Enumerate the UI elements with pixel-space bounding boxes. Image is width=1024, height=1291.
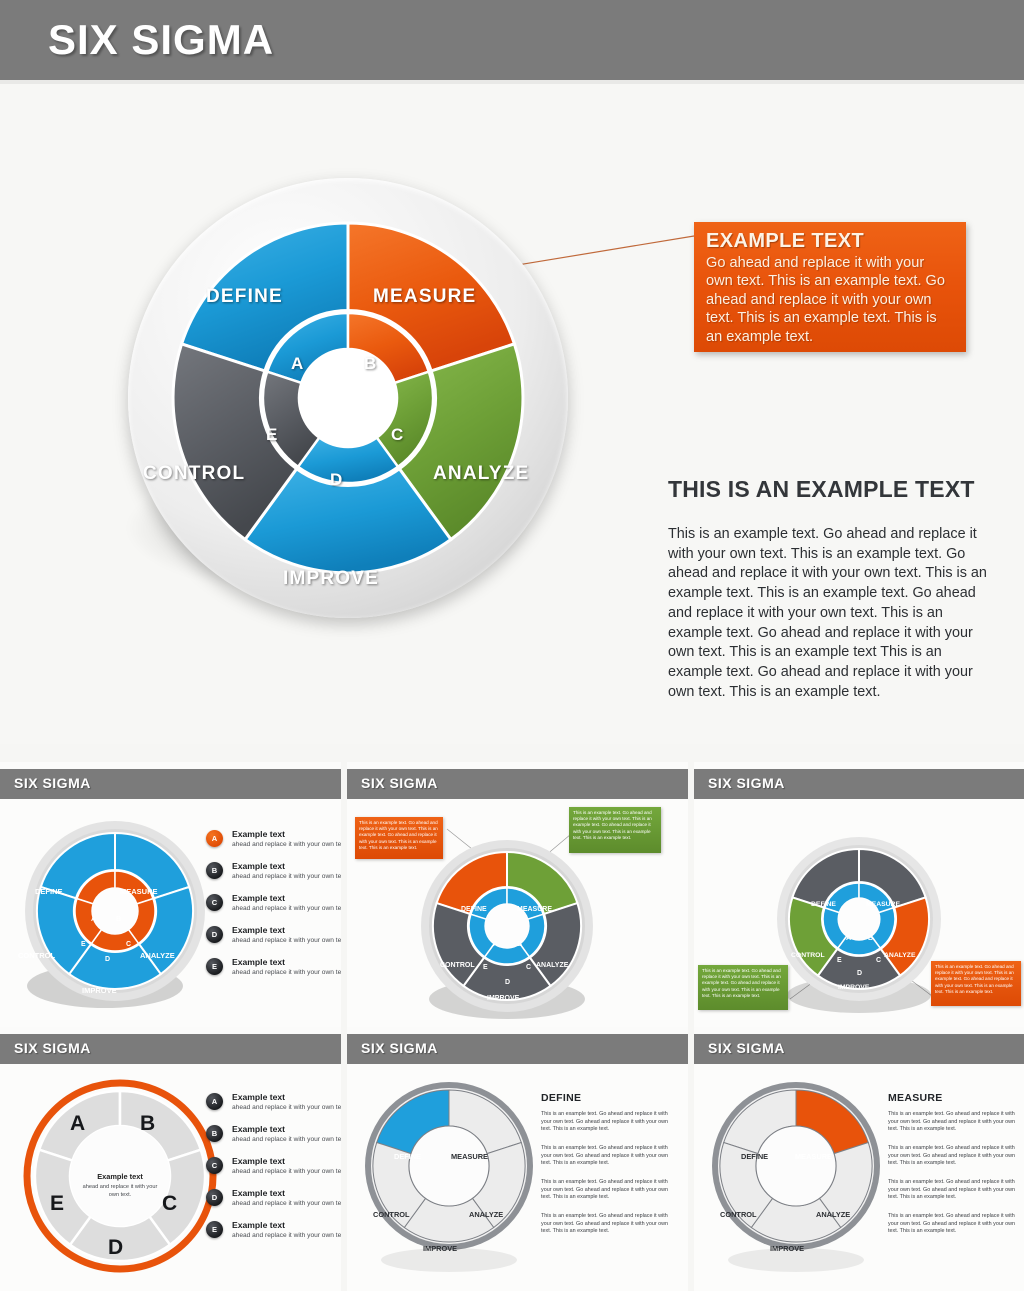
- t4-letter-b: B: [140, 1112, 155, 1136]
- t3-ring-c: C: [876, 957, 881, 964]
- thumbnail-grid: SIX SIGMA: [0, 762, 1024, 1291]
- t1-ring-c: C: [126, 941, 131, 948]
- thumbnail-5-side: DEFINE This is an example text. Go ahead…: [541, 1092, 673, 1247]
- t3-callout-green-text: This is an example text. Go ahead and re…: [702, 968, 784, 999]
- thumbnail-2-body: DEFINE MEASURE ANALYZE IMPROVE CONTROL A…: [347, 799, 688, 1027]
- t5-side-heading: DEFINE: [541, 1092, 673, 1104]
- callout-title: EXAMPLE TEXT: [706, 230, 954, 253]
- legend-item[interactable]: B Example text ahead and replace it with…: [206, 861, 336, 891]
- t4-legend-badge-c: C: [206, 1157, 223, 1174]
- t4-letter-d: D: [108, 1236, 123, 1260]
- t1-ring-b: B: [116, 916, 121, 923]
- thumbnail-3-header: SIX SIGMA: [694, 769, 1024, 799]
- legend-item[interactable]: E Example text ahead and replace it with…: [206, 957, 336, 987]
- t4-legend-title-b: Example text: [232, 1124, 285, 1134]
- t4-legend-sub-b: ahead and replace it with your own text.: [232, 1136, 341, 1143]
- callout-body: Go ahead and replace it with your own te…: [706, 254, 954, 346]
- t3-ring-d: D: [857, 970, 862, 977]
- thumbnail-6-side: MEASURE This is an example text. Go ahea…: [888, 1092, 1016, 1247]
- ring-label-d: D: [330, 470, 342, 490]
- t3-label-analyze: ANALYZE: [884, 952, 915, 959]
- t4-legend-badge-e: E: [206, 1221, 223, 1238]
- thumbnail-5[interactable]: SIX SIGMA DEFINE: [347, 1027, 688, 1291]
- t6-label-define: DEFINE: [741, 1152, 768, 1161]
- thumbnail-6-header: SIX SIGMA: [694, 1034, 1024, 1064]
- legend-item[interactable]: A Example text ahead and replace it with…: [206, 829, 336, 859]
- t6-label-analyze: ANALYZE: [816, 1210, 850, 1219]
- t1-ring-e: E: [81, 941, 86, 948]
- legend-badge-b: B: [206, 862, 223, 879]
- t4-legend-badge-b: B: [206, 1125, 223, 1142]
- t2-ring-a: A: [493, 941, 498, 948]
- legend-badge-e: E: [206, 958, 223, 975]
- thumbnail-3-body: DEFINE MEASURE ANALYZE IMPROVE CONTROL A…: [694, 799, 1024, 1027]
- legend-badge-c: C: [206, 894, 223, 911]
- t3-callout-orange: This is an example text. Go ahead and re…: [931, 961, 1021, 1006]
- legend-sub-e: ahead and replace it with your own text.: [232, 969, 341, 976]
- legend-title-c: Example text: [232, 893, 285, 903]
- thumbnail-4[interactable]: SIX SIGMA A B C D: [0, 1027, 341, 1291]
- wheel-hub: [299, 349, 397, 447]
- t2-callout-green: This is an example text. Go ahead and re…: [569, 807, 661, 853]
- t2-label-analyze: ANALYZE: [536, 962, 568, 969]
- ring-label-a: A: [291, 354, 303, 374]
- t6-label-improve: IMPROVE: [770, 1244, 804, 1253]
- thumbnail-4-header: SIX SIGMA: [0, 1034, 341, 1064]
- t4-legend-title-c: Example text: [232, 1156, 285, 1166]
- thumbnail-2-title: SIX SIGMA: [361, 775, 438, 791]
- t3-label-improve: IMPROVE: [838, 984, 869, 991]
- t4-legend-badge-d: D: [206, 1189, 223, 1206]
- legend-item[interactable]: D Example text ahead and replace it with…: [206, 925, 336, 955]
- t3-ring-a: A: [846, 935, 851, 942]
- thumbnail-6-title: SIX SIGMA: [708, 1040, 785, 1056]
- t4-legend-badge-a: A: [206, 1093, 223, 1110]
- legend-item[interactable]: C Example text ahead and replace it with…: [206, 893, 336, 923]
- t6-side-p2: This is an example text. Go ahead and re…: [888, 1145, 1016, 1168]
- t2-callout-green-text: This is an example text. Go ahead and re…: [573, 810, 657, 841]
- t5-label-improve: IMPROVE: [423, 1244, 457, 1253]
- right-text-body: This is an example text. Go ahead and re…: [668, 525, 990, 703]
- thumbnail-1-legend: A Example text ahead and replace it with…: [206, 829, 336, 989]
- thumbnail-1[interactable]: SIX SIGMA: [0, 762, 341, 1027]
- t5-label-measure: MEASURE: [451, 1152, 488, 1161]
- thumbnail-5-title: SIX SIGMA: [361, 1040, 438, 1056]
- thumbnail-2-header: SIX SIGMA: [347, 769, 688, 799]
- t5-label-control: CONTROL: [373, 1210, 410, 1219]
- t4-letter-c: C: [162, 1192, 177, 1216]
- t3-label-control: CONTROL: [791, 952, 825, 959]
- legend-title-e: Example text: [232, 957, 285, 967]
- right-text-block: THIS IS AN EXAMPLE TEXT This is an examp…: [668, 476, 990, 703]
- t2-callout-orange: This is an example text. Go ahead and re…: [355, 817, 443, 859]
- t1-label-analyze: ANALYZE: [140, 951, 175, 960]
- t6-side-p4: This is an example text. Go ahead and re…: [888, 1213, 1016, 1236]
- thumbnail-6[interactable]: SIX SIGMA DEFINE: [694, 1027, 1024, 1291]
- t3-ring-b: B: [868, 935, 873, 942]
- thumbnail-4-title: SIX SIGMA: [14, 1040, 91, 1056]
- thumbnail-6-body: DEFINE MEASURE ANALYZE IMPROVE CONTROL M…: [694, 1064, 1024, 1291]
- t1-ring-a: A: [91, 916, 96, 923]
- t6-label-measure: MEASURE: [795, 1152, 832, 1161]
- t3-label-measure: MEASURE: [866, 901, 900, 908]
- wheel-segments: [128, 178, 568, 618]
- t4-legend-sub-e: ahead and replace it with your own text.: [232, 1232, 341, 1239]
- thumbnail-1-title: SIX SIGMA: [14, 775, 91, 791]
- hero-section: DEFINE MEASURE ANALYZE IMPROVE CONTROL A…: [0, 84, 1024, 744]
- thumbnail-3[interactable]: SIX SIGMA: [694, 762, 1024, 1027]
- t4-letter-e: E: [50, 1192, 64, 1216]
- t6-label-control: CONTROL: [720, 1210, 757, 1219]
- label-analyze: ANALYZE: [433, 463, 529, 485]
- label-measure: MEASURE: [373, 286, 476, 308]
- t4-legend-title-a: Example text: [232, 1092, 285, 1102]
- t4-center-text: Example text ahead and replace it with y…: [80, 1172, 160, 1199]
- legend-badge-d: D: [206, 926, 223, 943]
- t4-legend-title-d: Example text: [232, 1188, 285, 1198]
- t4-center-title: Example text: [80, 1172, 160, 1181]
- t3-callout-green: This is an example text. Go ahead and re…: [698, 965, 788, 1010]
- t2-label-control: CONTROL: [440, 962, 475, 969]
- page-title: SIX SIGMA: [48, 16, 274, 64]
- ring-label-e: E: [266, 425, 277, 445]
- t2-ring-e: E: [483, 964, 488, 971]
- legend-sub-c: ahead and replace it with your own text.: [232, 905, 341, 912]
- t4-center-sub: ahead and replace it with your own text.: [80, 1184, 160, 1199]
- thumbnail-3-title: SIX SIGMA: [708, 775, 785, 791]
- ring-label-c: C: [391, 425, 403, 445]
- legend-title-b: Example text: [232, 861, 285, 871]
- main-header: SIX SIGMA: [0, 0, 1024, 80]
- six-sigma-wheel: DEFINE MEASURE ANALYZE IMPROVE CONTROL A…: [108, 158, 588, 658]
- legend-sub-a: ahead and replace it with your own text.: [232, 841, 341, 848]
- legend-title-d: Example text: [232, 925, 285, 935]
- t5-side-p1: This is an example text. Go ahead and re…: [541, 1111, 673, 1134]
- t2-label-define: DEFINE: [461, 906, 487, 913]
- t6-side-heading: MEASURE: [888, 1092, 1016, 1104]
- t2-ring-d: D: [505, 979, 510, 986]
- t2-callout-orange-text: This is an example text. Go ahead and re…: [359, 820, 439, 851]
- t3-ring-e: E: [837, 957, 842, 964]
- t6-side-p3: This is an example text. Go ahead and re…: [888, 1179, 1016, 1202]
- example-callout-box: EXAMPLE TEXT Go ahead and replace it wit…: [694, 222, 966, 352]
- legend-item[interactable]: B Example text ahead and replace it with…: [206, 1124, 336, 1154]
- t5-label-analyze: ANALYZE: [469, 1210, 503, 1219]
- legend-badge-a: A: [206, 830, 223, 847]
- legend-title-a: Example text: [232, 829, 285, 839]
- right-text-heading: THIS IS AN EXAMPLE TEXT: [668, 476, 990, 503]
- t1-label-measure: MEASURE: [120, 887, 158, 896]
- label-control: CONTROL: [143, 463, 245, 485]
- t5-side-p4: This is an example text. Go ahead and re…: [541, 1213, 673, 1236]
- t6-side-p1: This is an example text. Go ahead and re…: [888, 1111, 1016, 1134]
- thumbnail-1-body: DEFINE MEASURE ANALYZE IMPROVE CONTROL A…: [0, 799, 341, 1027]
- thumbnail-5-body: DEFINE MEASURE ANALYZE IMPROVE CONTROL D…: [347, 1064, 688, 1291]
- label-improve: IMPROVE: [283, 568, 379, 590]
- t4-legend-sub-d: ahead and replace it with your own text.: [232, 1200, 341, 1207]
- t4-legend-sub-a: ahead and replace it with your own text.: [232, 1104, 341, 1111]
- t1-label-define: DEFINE: [35, 887, 63, 896]
- thumbnail-2[interactable]: SIX SIGMA: [347, 762, 688, 1027]
- t4-legend-sub-c: ahead and replace it with your own text.: [232, 1168, 341, 1175]
- legend-sub-b: ahead and replace it with your own text.: [232, 873, 341, 880]
- t4-letter-a: A: [70, 1112, 85, 1136]
- t1-label-control: CONTROL: [18, 951, 55, 960]
- legend-item[interactable]: D Example text ahead and replace it with…: [206, 1188, 336, 1218]
- ring-label-b: B: [364, 354, 376, 374]
- legend-sub-d: ahead and replace it with your own text.: [232, 937, 341, 944]
- t2-ring-c: C: [526, 964, 531, 971]
- t1-ring-d: D: [105, 956, 110, 963]
- label-define: DEFINE: [206, 286, 283, 308]
- page-root: SIX SIGMA: [0, 0, 1024, 1291]
- t2-label-measure: MEASURE: [517, 906, 552, 913]
- t5-side-p2: This is an example text. Go ahead and re…: [541, 1145, 673, 1168]
- t4-legend-title-e: Example text: [232, 1220, 285, 1230]
- thumbnail-4-legend: A Example text ahead and replace it with…: [206, 1092, 336, 1252]
- t1-label-improve: IMPROVE: [82, 986, 117, 995]
- thumbnail-4-body: A B C D E Example text ahead and replace…: [0, 1064, 341, 1291]
- legend-item[interactable]: A Example text ahead and replace it with…: [206, 1092, 336, 1122]
- thumbnail-1-header: SIX SIGMA: [0, 769, 341, 799]
- thumbnail-5-header: SIX SIGMA: [347, 1034, 688, 1064]
- t5-label-define: DEFINE: [394, 1152, 421, 1161]
- t2-label-improve: IMPROVE: [487, 995, 519, 1002]
- t3-label-define: DEFINE: [811, 901, 836, 908]
- t2-ring-b: B: [517, 941, 522, 948]
- t3-callout-orange-text: This is an example text. Go ahead and re…: [935, 964, 1017, 995]
- t5-side-p3: This is an example text. Go ahead and re…: [541, 1179, 673, 1202]
- legend-item[interactable]: E Example text ahead and replace it with…: [206, 1220, 336, 1250]
- legend-item[interactable]: C Example text ahead and replace it with…: [206, 1156, 336, 1186]
